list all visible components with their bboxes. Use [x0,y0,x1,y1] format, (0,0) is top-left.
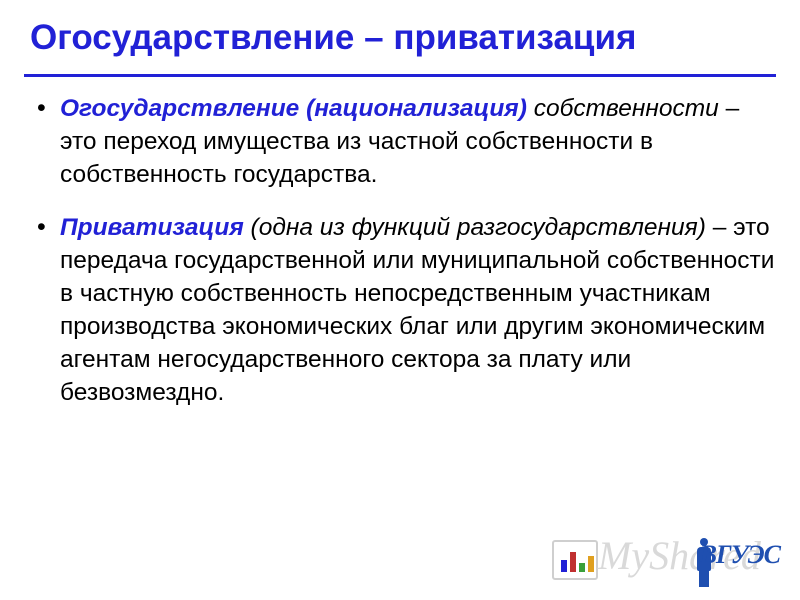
slide: Огосударствление – приватизация • Огосуд… [0,0,800,600]
term-privatization: Приватизация [60,214,244,241]
bullet-marker-icon-2: • [30,211,60,244]
slide-body: • Огосударствление (национализация) собс… [30,92,778,415]
bar-chart-icon [552,540,598,580]
bullet-marker-icon: • [30,92,60,125]
bullet-item-nationalization: • Огосударствление (национализация) собс… [30,92,778,191]
bullet-text-nationalization: Огосударствление (национализация) собств… [60,92,778,191]
term-nationalization: Огосударствление (национализация) [60,95,527,122]
vgues-logo: ВГУЭС [694,534,780,592]
term-nationalization-qualifier: собственности [534,95,719,122]
watermark: MyShared ВГУЭС [536,520,786,592]
vgues-logo-text: ВГУЭС [700,540,780,570]
title-divider [24,74,776,77]
bullet-text-privatization: Приватизация (одна из функций разгосудар… [60,211,778,409]
term-privatization-qualifier: (одна из функций разгосударствления) [244,214,706,241]
definition-privatization: – это передача государственной или муниц… [60,214,774,406]
bullet-item-privatization: • Приватизация (одна из функций разгосуд… [30,211,778,409]
page-title: Огосударствление – приватизация [30,18,770,58]
